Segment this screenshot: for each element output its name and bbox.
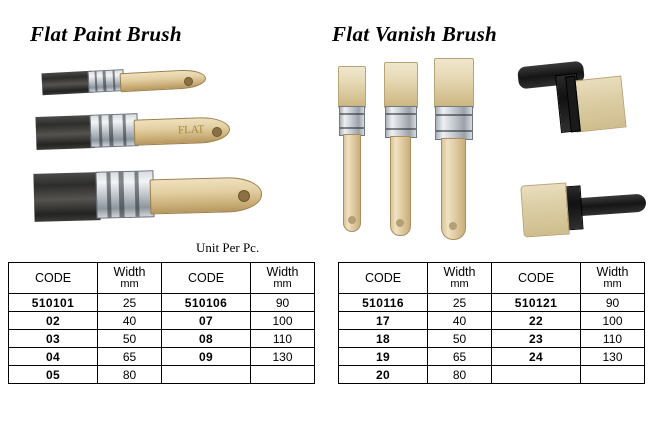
header-width-2: Width mm bbox=[251, 263, 315, 294]
brush-hang-hole-icon bbox=[212, 127, 222, 137]
cell-width bbox=[581, 366, 645, 384]
left-panel-title: Flat Paint Brush bbox=[30, 22, 182, 47]
right-panel-title: Flat Vanish Brush bbox=[332, 22, 497, 47]
cell-width: 40 bbox=[98, 312, 162, 330]
table-row: 02 40 07 100 bbox=[9, 312, 315, 330]
cell-code: 05 bbox=[9, 366, 98, 384]
table-row: 19 65 24 130 bbox=[339, 348, 645, 366]
brush-bristles-icon bbox=[33, 172, 100, 222]
header-code-1: CODE bbox=[9, 263, 98, 294]
cell-code: 07 bbox=[162, 312, 251, 330]
brush-bristles-icon bbox=[434, 58, 474, 108]
brush-brand-print: FLAT bbox=[178, 124, 205, 137]
cell-code: 18 bbox=[339, 330, 428, 348]
table-row: 17 40 22 100 bbox=[339, 312, 645, 330]
header-code-2: CODE bbox=[162, 263, 251, 294]
header-width-1: Width mm bbox=[98, 263, 162, 294]
header-code-2: CODE bbox=[492, 263, 581, 294]
header-width-2: Width mm bbox=[581, 263, 645, 294]
cell-width: 65 bbox=[428, 348, 492, 366]
brush-handle-icon bbox=[120, 69, 207, 92]
brush-ferrule-icon bbox=[95, 170, 154, 219]
cell-code: 17 bbox=[339, 312, 428, 330]
brush-hang-hole-icon bbox=[348, 216, 356, 224]
left-panel: Flat Paint Brush FLAT bbox=[0, 0, 322, 429]
brush-hang-hole-icon bbox=[449, 222, 457, 230]
cell-width: 25 bbox=[98, 294, 162, 312]
cell-width: 100 bbox=[251, 312, 315, 330]
brush-ferrule-icon bbox=[339, 106, 365, 136]
cell-width: 90 bbox=[581, 294, 645, 312]
cell-width: 80 bbox=[428, 366, 492, 384]
brush-ferrule-icon bbox=[435, 106, 473, 140]
cell-code: 24 bbox=[492, 348, 581, 366]
cell-width: 50 bbox=[428, 330, 492, 348]
cell-code: 09 bbox=[162, 348, 251, 366]
cell-code: 510116 bbox=[339, 294, 428, 312]
table-header-row: CODE Width mm CODE Width mm bbox=[339, 263, 645, 294]
table-row: 05 80 bbox=[9, 366, 315, 384]
table-row: 03 50 08 110 bbox=[9, 330, 315, 348]
cell-code: 23 bbox=[492, 330, 581, 348]
cell-code: 510101 bbox=[9, 294, 98, 312]
brush-bristles-icon bbox=[338, 66, 366, 108]
cell-code: 19 bbox=[339, 348, 428, 366]
brush-ferrule-icon bbox=[385, 106, 417, 138]
cell-code bbox=[162, 366, 251, 384]
table-row: 510101 25 510106 90 bbox=[9, 294, 315, 312]
brush-hang-hole-icon bbox=[238, 190, 250, 202]
table-row: 04 65 09 130 bbox=[9, 348, 315, 366]
table-row: 20 80 bbox=[339, 366, 645, 384]
cell-code: 20 bbox=[339, 366, 428, 384]
cell-code: 510121 bbox=[492, 294, 581, 312]
brush-hang-hole-icon bbox=[396, 219, 404, 227]
header-width-1: Width mm bbox=[428, 263, 492, 294]
table-header-row: CODE Width mm CODE Width mm bbox=[9, 263, 315, 294]
cell-width: 130 bbox=[581, 348, 645, 366]
cell-width: 25 bbox=[428, 294, 492, 312]
cell-code: 08 bbox=[162, 330, 251, 348]
cell-code bbox=[492, 366, 581, 384]
cell-code: 03 bbox=[9, 330, 98, 348]
cell-width: 50 bbox=[98, 330, 162, 348]
brush-ferrule-icon bbox=[89, 113, 138, 148]
brush-bristles-icon bbox=[35, 115, 94, 150]
table-row: 510116 25 510121 90 bbox=[339, 294, 645, 312]
cell-width: 80 bbox=[98, 366, 162, 384]
brush-handle-icon bbox=[573, 194, 646, 217]
left-code-table: CODE Width mm CODE Width mm bbox=[8, 262, 315, 384]
catalog-page: Flat Paint Brush FLAT bbox=[0, 0, 669, 429]
cell-width: 40 bbox=[428, 312, 492, 330]
brush-bristles-icon bbox=[384, 62, 418, 108]
cell-width: 110 bbox=[251, 330, 315, 348]
cell-width: 130 bbox=[251, 348, 315, 366]
cell-code: 510106 bbox=[162, 294, 251, 312]
cell-width: 110 bbox=[581, 330, 645, 348]
right-panel: Flat Vanish Brush bbox=[322, 0, 669, 429]
cell-width: 65 bbox=[98, 348, 162, 366]
cell-width: 90 bbox=[251, 294, 315, 312]
unit-per-piece-note: Unit Per Pc. bbox=[196, 240, 259, 256]
header-code-1: CODE bbox=[339, 263, 428, 294]
cell-code: 04 bbox=[9, 348, 98, 366]
cell-code: 02 bbox=[9, 312, 98, 330]
table-row: 18 50 23 110 bbox=[339, 330, 645, 348]
cell-code: 22 bbox=[492, 312, 581, 330]
cell-width bbox=[251, 366, 315, 384]
brush-bristles-icon bbox=[41, 71, 92, 96]
right-code-table: CODE Width mm CODE Width mm bbox=[338, 262, 645, 384]
brush-bristles-icon bbox=[520, 182, 570, 237]
cell-width: 100 bbox=[581, 312, 645, 330]
